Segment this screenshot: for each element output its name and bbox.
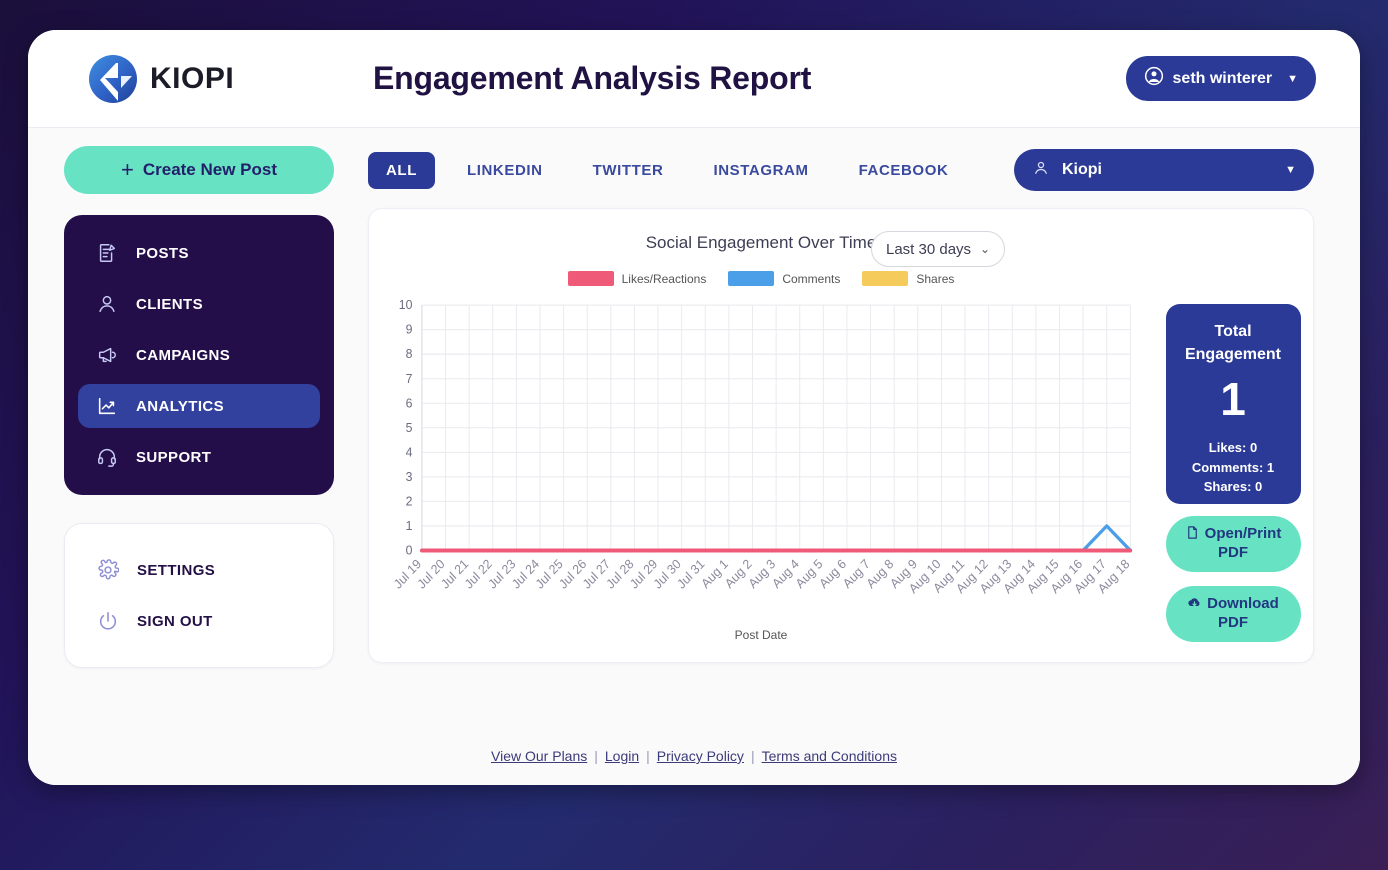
shares-count: Shares: 0: [1174, 477, 1293, 497]
user-menu-button[interactable]: seth winterer ▼: [1126, 56, 1316, 101]
svg-text:Jul 31: Jul 31: [674, 556, 707, 592]
pdf-file-icon: [1185, 525, 1200, 540]
footer-separator: |: [646, 748, 650, 764]
power-icon: [97, 610, 119, 632]
open-print-pdf-label-line1: Open/Print: [1205, 525, 1282, 542]
svg-text:2: 2: [406, 493, 413, 509]
footer-link-view-our-plans[interactable]: View Our Plans: [491, 748, 587, 764]
document-pen-icon: [96, 242, 118, 264]
svg-text:7: 7: [406, 370, 413, 386]
sidebar-item-posts[interactable]: POSTS: [78, 231, 320, 275]
legend-label: Comments: [782, 272, 840, 286]
kiopi-logo-icon: [88, 54, 138, 104]
tab-all[interactable]: ALL: [368, 152, 435, 189]
main-content: ALL LINKEDIN TWITTER INSTAGRAM FACEBOOK …: [338, 128, 1360, 727]
sidebar-item-label: CLIENTS: [136, 296, 203, 313]
app-window: KIOPI Engagement Analysis Report seth wi…: [28, 30, 1360, 785]
svg-text:8: 8: [406, 346, 413, 362]
chart-plot: 012345678910Jul 19Jul 20Jul 21Jul 22Jul …: [369, 297, 1153, 662]
brand-name: KIOPI: [150, 62, 234, 96]
chevron-down-icon: ▼: [1287, 73, 1298, 85]
footer-link-terms-and-conditions[interactable]: Terms and Conditions: [762, 748, 897, 764]
sidebar-item-analytics[interactable]: ANALYTICS: [78, 384, 320, 428]
x-axis-title: Post Date: [369, 628, 1153, 642]
cloud-download-icon: [1187, 595, 1202, 610]
sidebar-utility-card: SETTINGS SIGN OUT: [64, 523, 334, 668]
svg-text:10: 10: [399, 297, 413, 312]
brand-logo[interactable]: KIOPI: [88, 54, 234, 104]
megaphone-icon: [96, 344, 118, 366]
download-pdf-button[interactable]: Download PDF: [1166, 586, 1301, 642]
footer: View Our Plans | Login | Privacy Policy …: [28, 727, 1360, 785]
legend-item-likes[interactable]: Likes/Reactions: [568, 271, 707, 286]
chart-legend: Likes/Reactions Comments Shares: [369, 271, 1153, 286]
footer-separator: |: [594, 748, 598, 764]
open-print-pdf-label-line2: PDF: [1185, 544, 1282, 563]
svg-text:3: 3: [406, 469, 413, 485]
sidebar-nav: POSTS CLIENTS: [64, 215, 334, 495]
summary-column: Total Engagement 1 Likes: 0 Comments: 1 …: [1153, 209, 1313, 662]
legend-swatch-likes: [568, 271, 614, 286]
footer-link-login[interactable]: Login: [605, 748, 639, 764]
sidebar-item-clients[interactable]: CLIENTS: [78, 282, 320, 326]
headset-icon: [96, 446, 118, 468]
chart-line-icon: [96, 395, 118, 417]
sidebar-item-sign-out[interactable]: SIGN OUT: [79, 599, 319, 643]
tab-linkedin[interactable]: LINKEDIN: [449, 152, 561, 189]
total-engagement-title-line1: Total: [1174, 320, 1293, 343]
sidebar-item-label: POSTS: [136, 245, 189, 262]
client-person-icon: [1032, 159, 1050, 182]
chart-title: Social Engagement Over Time: [369, 233, 1153, 253]
sidebar: + Create New Post POSTS: [28, 128, 338, 727]
chart-panel: Social Engagement Over Time Likes/Reacti…: [368, 208, 1314, 663]
svg-text:1: 1: [406, 518, 413, 534]
create-new-post-button[interactable]: + Create New Post: [64, 146, 334, 194]
network-tabs: ALL LINKEDIN TWITTER INSTAGRAM FACEBOOK …: [368, 146, 1314, 194]
person-icon: [96, 293, 118, 315]
user-circle-icon: [1144, 66, 1164, 91]
likes-count: Likes: 0: [1174, 438, 1293, 458]
app-header: KIOPI Engagement Analysis Report seth wi…: [28, 30, 1360, 128]
page-title: Engagement Analysis Report: [373, 60, 811, 97]
engagement-line-chart: 012345678910Jul 19Jul 20Jul 21Jul 22Jul …: [369, 297, 1153, 662]
legend-swatch-shares: [862, 271, 908, 286]
comments-count: Comments: 1: [1174, 458, 1293, 478]
sidebar-item-label: CAMPAIGNS: [136, 347, 230, 364]
gear-icon: [97, 559, 119, 581]
tab-facebook[interactable]: FACEBOOK: [841, 152, 967, 189]
tab-twitter[interactable]: TWITTER: [575, 152, 682, 189]
user-name-label: seth winterer: [1173, 70, 1273, 88]
date-range-value: Last 30 days: [886, 241, 971, 258]
svg-text:0: 0: [406, 542, 413, 558]
sidebar-item-settings[interactable]: SETTINGS: [79, 548, 319, 592]
svg-text:9: 9: [406, 321, 413, 337]
download-pdf-label-line1: Download: [1207, 595, 1279, 612]
chevron-down-icon: ⌄: [980, 242, 990, 256]
sidebar-item-support[interactable]: SUPPORT: [78, 435, 320, 479]
footer-link-privacy-policy[interactable]: Privacy Policy: [657, 748, 744, 764]
date-range-select[interactable]: Last 30 days ⌄: [871, 231, 1005, 267]
app-body: + Create New Post POSTS: [28, 128, 1360, 727]
sidebar-item-label: ANALYTICS: [136, 398, 224, 415]
svg-text:6: 6: [406, 395, 413, 411]
svg-text:4: 4: [406, 444, 413, 460]
client-select-value: Kiopi: [1062, 161, 1102, 179]
sidebar-item-label: SIGN OUT: [137, 613, 213, 630]
total-engagement-value: 1: [1174, 376, 1293, 422]
chevron-down-icon: ▼: [1285, 164, 1296, 176]
tab-instagram[interactable]: INSTAGRAM: [695, 152, 826, 189]
legend-swatch-comments: [728, 271, 774, 286]
plus-icon: +: [121, 159, 134, 181]
legend-item-comments[interactable]: Comments: [728, 271, 840, 286]
total-engagement-title-line2: Engagement: [1174, 343, 1293, 366]
legend-label: Likes/Reactions: [622, 272, 707, 286]
sidebar-item-label: SUPPORT: [136, 449, 211, 466]
legend-label: Shares: [916, 272, 954, 286]
open-print-pdf-button[interactable]: Open/Print PDF: [1166, 516, 1301, 572]
footer-separator: |: [751, 748, 755, 764]
total-engagement-card: Total Engagement 1 Likes: 0 Comments: 1 …: [1166, 304, 1301, 504]
sidebar-item-label: SETTINGS: [137, 562, 215, 579]
chart-area: Social Engagement Over Time Likes/Reacti…: [369, 209, 1153, 662]
legend-item-shares[interactable]: Shares: [862, 271, 954, 286]
svg-text:5: 5: [406, 419, 413, 435]
download-pdf-label-line2: PDF: [1187, 614, 1279, 633]
sidebar-item-campaigns[interactable]: CAMPAIGNS: [78, 333, 320, 377]
create-new-post-label: Create New Post: [143, 160, 277, 180]
client-select[interactable]: Kiopi ▼: [1014, 149, 1314, 191]
